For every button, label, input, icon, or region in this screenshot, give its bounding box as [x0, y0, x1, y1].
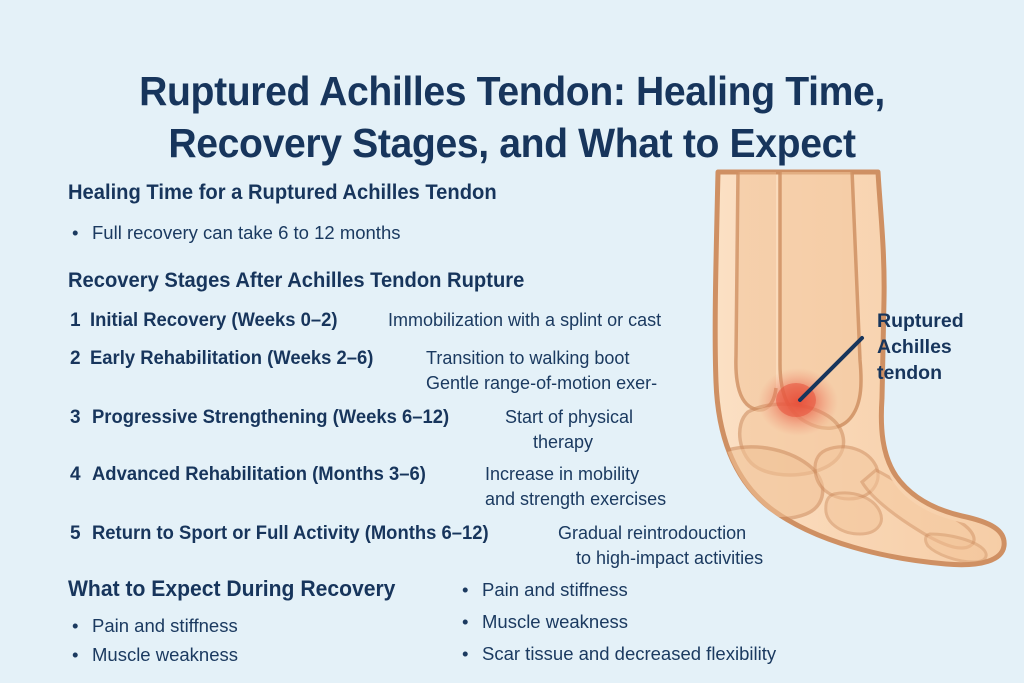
annotation-line: Ruptured: [877, 308, 964, 334]
rupture-site-marker: [758, 368, 838, 436]
stage-number: 4: [70, 462, 81, 487]
annotation-ruptured-achilles-tendon: Ruptured Achilles tendon: [877, 308, 964, 386]
bullet-glyph: •: [462, 578, 482, 602]
stage-number: 1: [70, 308, 81, 333]
stage-title: Initial Recovery (Weeks 0–2): [90, 308, 338, 333]
stage-number: 2: [70, 346, 81, 371]
stage-description-line: Gentle range-of-motion exer-: [426, 371, 657, 396]
stage-description: Transition to walking boot Gentle range-…: [426, 346, 657, 396]
stage-title: Early Rehabilitation (Weeks 2–6): [90, 346, 373, 371]
bullet-glyph: •: [72, 643, 92, 667]
stage-description-line: and strength exercises: [485, 487, 666, 512]
stage-description: Start of physical therapy: [505, 405, 633, 455]
healing-time-bullet: •Full recovery can take 6 to 12 months: [72, 221, 400, 245]
bullet-glyph: •: [462, 610, 482, 634]
bullet-glyph: •: [72, 221, 92, 245]
section-heading-what-to-expect: What to Expect During Recovery: [68, 576, 395, 602]
stage-title: Progressive Strengthening (Weeks 6–12): [92, 405, 449, 430]
stage-description-line: Start of physical: [505, 405, 633, 430]
stage-description: Immobilization with a splint or cast: [388, 308, 661, 333]
stage-description: Gradual reintrodouction to high-impact a…: [558, 521, 763, 571]
section-heading-recovery-stages: Recovery Stages After Achilles Tendon Ru…: [68, 268, 524, 294]
stage-description-line: therapy: [505, 430, 633, 455]
stage-title: Return to Sport or Full Activity (Months…: [92, 521, 489, 546]
ankle-foot-illustration: [630, 150, 1024, 580]
expect-left-bullet: •Pain and stiffness: [72, 614, 238, 638]
stage-title: Advanced Rehabilitation (Months 3–6): [92, 462, 426, 487]
stage-description-line: Increase in mobility: [485, 462, 666, 487]
annotation-line: tendon: [877, 360, 964, 386]
page-title-line-2: Recovery Stages, and What to Expect: [71, 117, 953, 169]
expect-right-bullet-text: Pain and stiffness: [482, 579, 628, 600]
section-heading-healing-time: Healing Time for a Ruptured Achilles Ten…: [68, 180, 497, 206]
expect-left-bullet: •Muscle weakness: [72, 643, 238, 667]
page-title-line-1: Ruptured Achilles Tendon: Healing Time,: [71, 65, 953, 117]
expect-left-bullet-text: Muscle weakness: [92, 644, 238, 665]
expect-right-bullet-text: Scar tissue and decreased flexibility: [482, 643, 776, 664]
infographic-canvas: Ruptured Achilles Tendon: Healing Time, …: [0, 0, 1024, 683]
stage-description: Increase in mobility and strength exerci…: [485, 462, 666, 512]
expect-right-bullet: •Pain and stiffness: [462, 578, 628, 602]
page-title: Ruptured Achilles Tendon: Healing Time, …: [71, 65, 953, 169]
bullet-glyph: •: [462, 642, 482, 666]
stage-description-line: to high-impact activities: [558, 546, 763, 571]
stage-description-line: Immobilization with a splint or cast: [388, 308, 661, 333]
bullet-glyph: •: [72, 614, 92, 638]
expect-right-bullet: •Scar tissue and decreased flexibility: [462, 642, 776, 666]
stage-number: 5: [70, 521, 81, 546]
stage-number: 3: [70, 405, 81, 430]
healing-time-bullet-text: Full recovery can take 6 to 12 months: [92, 222, 400, 243]
expect-left-bullet-text: Pain and stiffness: [92, 615, 238, 636]
expect-right-bullet: •Muscle weakness: [462, 610, 628, 634]
stage-description-line: Transition to walking boot: [426, 346, 657, 371]
stage-description-line: Gradual reintrodouction: [558, 521, 763, 546]
expect-right-bullet-text: Muscle weakness: [482, 611, 628, 632]
annotation-line: Achilles: [877, 334, 964, 360]
